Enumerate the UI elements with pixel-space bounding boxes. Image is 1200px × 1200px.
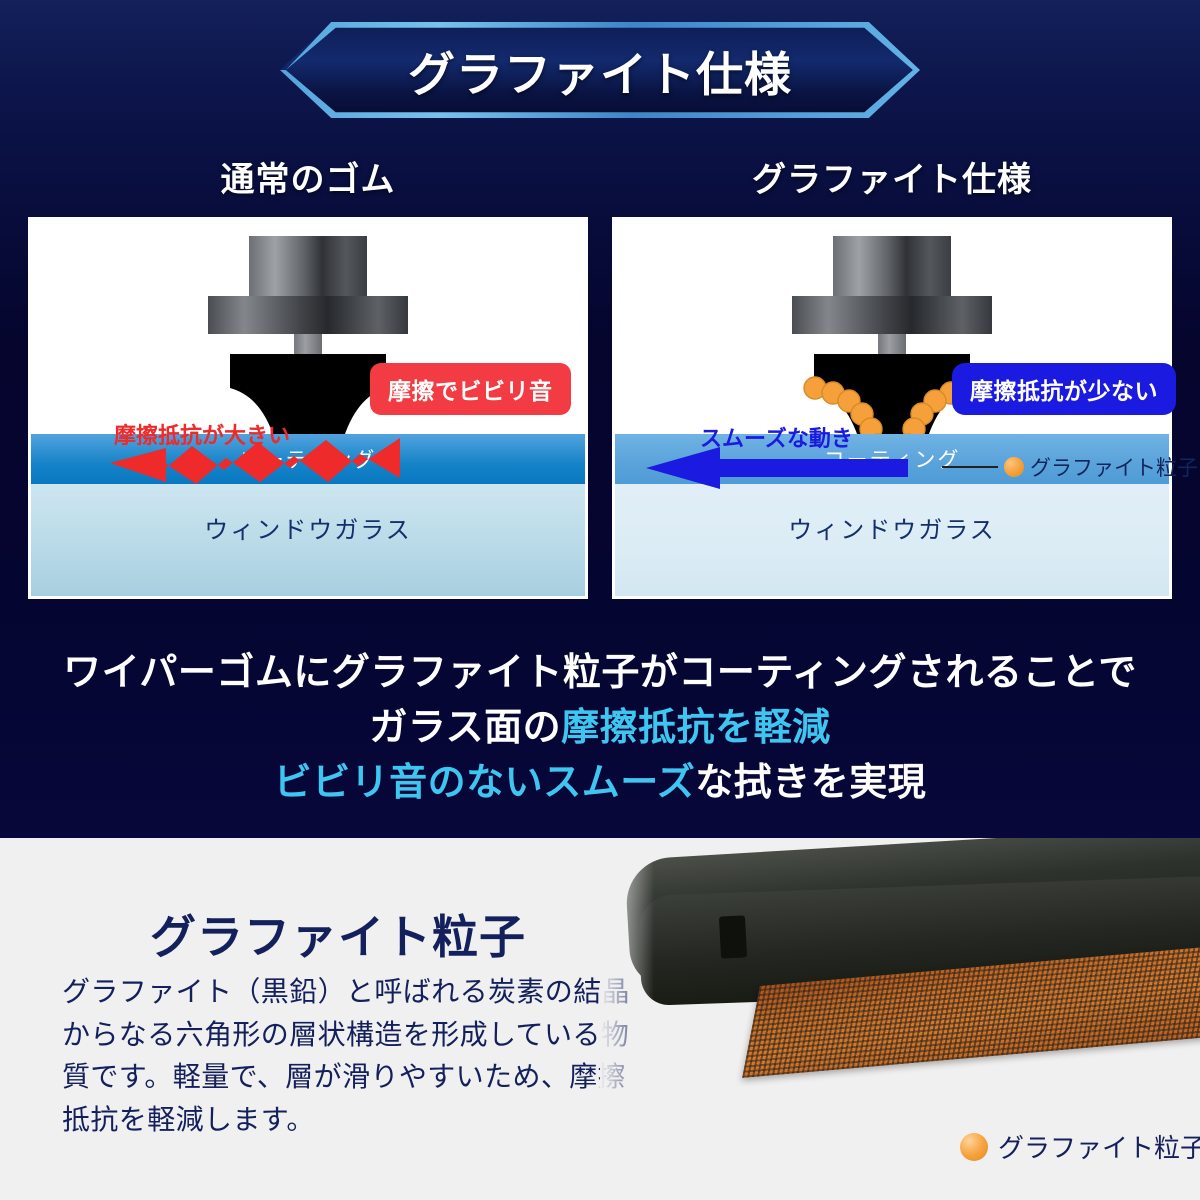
summary-line-3: ビビリ音のないスムーズな拭きを実現 xyxy=(0,756,1200,811)
wiper-blade-photo: グラファイト粒子 xyxy=(600,838,1200,1200)
top-dark-section: グラファイト仕様 通常のゴム xyxy=(0,0,1200,838)
graphite-particle-callout: グラファイト粒子 xyxy=(942,452,1198,482)
wiper-cap-icon xyxy=(833,236,951,296)
callout-label: グラファイト粒子 xyxy=(1030,452,1198,482)
summary-line-2-highlight: 摩擦抵抗を軽減 xyxy=(561,707,831,749)
summary-line-3-plain: な拭きを実現 xyxy=(695,762,926,804)
banner-title: グラファイト仕様 xyxy=(280,22,920,118)
straight-arrow-icon xyxy=(646,447,908,489)
title-banner: グラファイト仕様 xyxy=(280,22,920,118)
callout-leader-line xyxy=(942,466,998,468)
photo-legend: グラファイト粒子 xyxy=(960,1128,1200,1165)
legend-graphite-dot-icon xyxy=(960,1133,988,1161)
summary-line-3-highlight-a: ビビリ音のない xyxy=(274,762,544,804)
status-badge-friction-noise: 摩擦でビビリ音 xyxy=(370,363,571,415)
summary-line-1: ワイパーゴムにグラファイト粒子がコーティングされることで xyxy=(0,646,1200,701)
summary-line-2-plain: ガラス面の xyxy=(369,707,561,749)
section-body-text: グラファイト（黒鉛）と呼ばれる炭素の結晶からなる六角形の層状構造を形成している物… xyxy=(62,971,642,1141)
summary-line-3-highlight-b: スムーズ xyxy=(543,762,695,804)
panel-title-standard: 通常のゴム xyxy=(28,152,588,201)
wiper-flange-icon xyxy=(208,296,408,334)
blade-notch xyxy=(719,915,747,958)
bottom-light-section: グラファイト粒子 グラファイト（黒鉛）と呼ばれる炭素の結晶からなる六角形の層状構… xyxy=(0,838,1200,1200)
zigzag-arrow-icon xyxy=(100,430,400,490)
wiper-neck-icon xyxy=(294,334,322,356)
infographic-page: グラファイト仕様 通常のゴム xyxy=(0,0,1200,1200)
section-heading-graphite: グラファイト粒子 xyxy=(150,901,526,967)
legend-label: グラファイト粒子 xyxy=(998,1128,1200,1165)
status-badge-low-friction: 摩擦抵抗が少ない xyxy=(952,363,1176,415)
panel-title-graphite: グラファイト仕様 xyxy=(612,152,1172,201)
summary-line-2: ガラス面の摩擦抵抗を軽減 xyxy=(0,701,1200,756)
summary-text-block: ワイパーゴムにグラファイト粒子がコーティングされることで ガラス面の摩擦抵抗を軽… xyxy=(0,646,1200,811)
wiper-neck-icon xyxy=(878,334,906,356)
wiper-cap-icon xyxy=(249,236,367,296)
wiper-flange-icon xyxy=(792,296,992,334)
glass-layer-standard: ウィンドウガラス xyxy=(31,484,585,596)
graphite-particle-dot-icon xyxy=(1004,457,1024,477)
glass-layer-graphite: ウィンドウガラス xyxy=(615,484,1169,596)
